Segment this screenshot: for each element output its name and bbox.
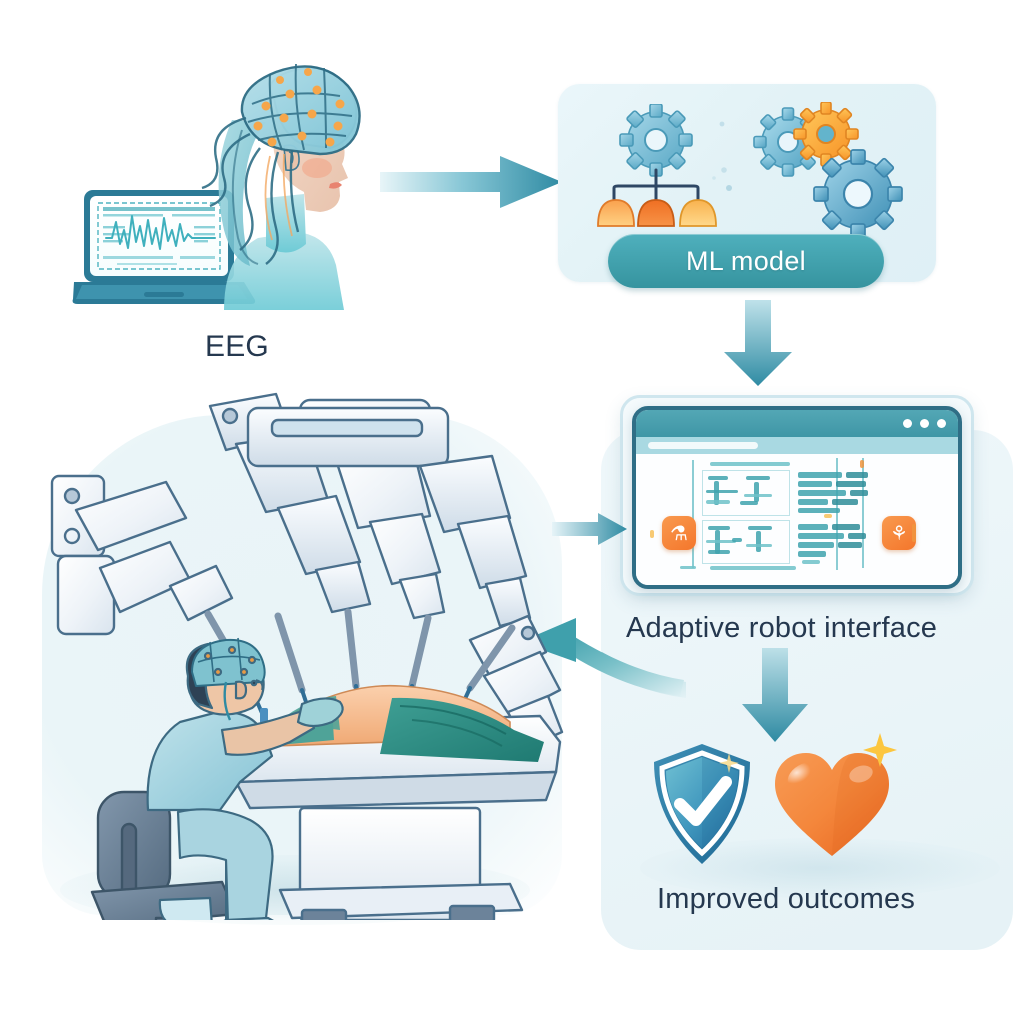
small-sparkle-icon [718, 752, 740, 774]
browser-titlebar [636, 410, 958, 437]
gears-icon [750, 102, 910, 252]
address-bar[interactable] [648, 442, 758, 449]
arrow-interface-to-outcomes [738, 648, 812, 744]
improved-outcomes-label: Improved outcomes [657, 883, 915, 916]
window-dot[interactable] [903, 419, 912, 428]
orange-figure-tile-icon[interactable]: ⚘ [882, 516, 916, 550]
arrow-eeg-to-ml [380, 152, 565, 212]
browser-window-icon[interactable]: ⚗ ⚘ [632, 406, 962, 589]
interface-canvas: ⚗ ⚘ [636, 454, 958, 585]
diagram-canvas: EEG [0, 0, 1024, 1024]
ml-model-label: ML model [686, 246, 806, 277]
person-with-eeg-cap-icon [180, 60, 390, 310]
arrow-ml-to-interface [718, 300, 798, 388]
window-dot[interactable] [937, 419, 946, 428]
sparkle-icon [862, 732, 898, 768]
robotic-surgery-scene [40, 390, 570, 920]
orange-tool-tile-icon[interactable]: ⚗ [662, 516, 696, 550]
window-dot[interactable] [920, 419, 929, 428]
ml-model-pill[interactable]: ML model [608, 234, 884, 288]
decorative-specks [700, 110, 760, 230]
eeg-label: EEG [205, 330, 269, 364]
